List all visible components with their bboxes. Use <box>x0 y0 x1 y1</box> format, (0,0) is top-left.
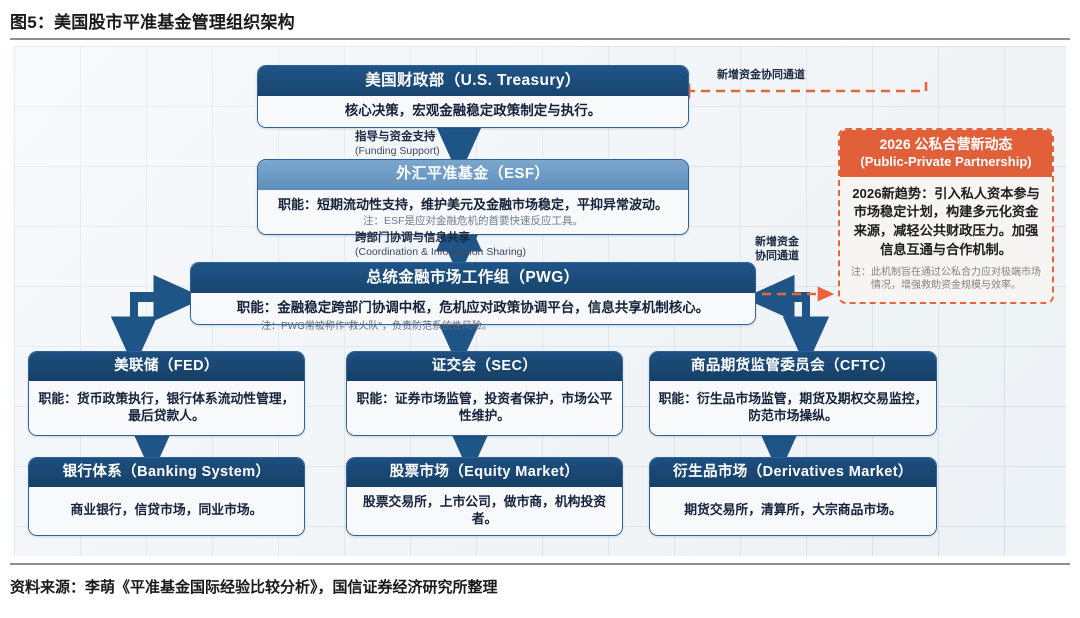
connector-label-funding: 指导与资金支持 (Funding Support) <box>355 131 440 157</box>
node-ppp-note: 注：此机制旨在通过公私合力应对极端市场情况，增强救助资金规模与效率。 <box>840 264 1052 302</box>
node-public-private-partnership[interactable]: 2026 公私合营新动态 (Public-Private Partnership… <box>838 128 1054 304</box>
node-esf-body-text: 职能：短期流动性支持，维护美元及金融市场稳定，平抑异常波动。 <box>278 197 668 212</box>
node-derivatives-market-body: 期货交易所，清算所，大宗商品市场。 <box>650 487 936 535</box>
node-banking-system[interactable]: 银行体系（Banking System） 商业银行，信贷市场，同业市场。 <box>28 457 305 536</box>
node-sec-body: 职能：证券市场监管，投资者保护，市场公平性维护。 <box>347 381 622 435</box>
node-esf-body: 职能：短期流动性支持，维护美元及金融市场稳定，平抑异常波动。 注：ESF是应对金… <box>258 190 688 234</box>
node-treasury-body: 核心决策，宏观金融稳定政策制定与执行。 <box>258 96 688 127</box>
node-ppp-body: 2026新趋势：引入私人资本参与市场稳定计划，构建多元化资金来源，减轻公共财政压… <box>840 177 1052 264</box>
node-derivatives-market-header: 衍生品市场（Derivatives Market） <box>650 458 936 487</box>
node-esf-header: 外汇平准基金（ESF） <box>258 160 688 190</box>
figure-page: 图5：美国股市平准基金管理组织架构 <box>0 0 1080 618</box>
node-pwg-note: 注：PWG常被称作"救火队"，负责防范系统性风险。 <box>261 321 492 333</box>
node-banking-system-body: 商业银行，信贷市场，同业市场。 <box>29 487 304 535</box>
node-equity-market[interactable]: 股票市场（Equity Market） 股票交易所，上市公司，做市商，机构投资者… <box>346 457 623 536</box>
connector-label-channel-mid: 新增资金 协同通道 <box>755 236 799 264</box>
node-fed-header: 美联储（FED） <box>29 352 304 381</box>
node-cftc[interactable]: 商品期货监管委员会（CFTC） 职能：衍生品市场监管，期货及期权交易监控，防范市… <box>649 351 937 436</box>
node-ppp-header: 2026 公私合营新动态 (Public-Private Partnership… <box>840 130 1052 177</box>
node-cftc-header: 商品期货监管委员会（CFTC） <box>650 352 936 381</box>
node-fed[interactable]: 美联储（FED） 职能：货币政策执行，银行体系流动性管理，最后贷款人。 <box>28 351 305 436</box>
connector-label-channel-top: 新增资金协同通道 <box>717 69 805 82</box>
node-treasury-header: 美国财政部（U.S. Treasury） <box>258 66 688 96</box>
node-esf[interactable]: 外汇平准基金（ESF） 职能：短期流动性支持，维护美元及金融市场稳定，平抑异常波… <box>257 159 689 235</box>
connector-label-coordination: 跨部门协调与信息共享 (Coordination & Information S… <box>355 232 526 258</box>
node-derivatives-market[interactable]: 衍生品市场（Derivatives Market） 期货交易所，清算所，大宗商品… <box>649 457 937 536</box>
node-sec[interactable]: 证交会（SEC） 职能：证券市场监管，投资者保护，市场公平性维护。 <box>346 351 623 436</box>
node-esf-note: 注：ESF是应对金融危机的首要快速反应工具。 <box>266 215 680 229</box>
node-fed-body: 职能：货币政策执行，银行体系流动性管理，最后贷款人。 <box>29 381 304 435</box>
node-equity-market-body: 股票交易所，上市公司，做市商，机构投资者。 <box>347 487 622 535</box>
connector-label-funding-cn: 指导与资金支持 <box>355 131 436 143</box>
connector-label-funding-en: (Funding Support) <box>355 145 440 158</box>
connector-label-coordination-cn: 跨部门协调与信息共享 <box>355 232 470 244</box>
connector-label-coordination-en: (Coordination & Information Sharing) <box>355 246 526 259</box>
node-pwg[interactable]: 总统金融市场工作组（PWG） 职能：金融稳定跨部门协调中枢，危机应对政策协调平台… <box>190 262 756 325</box>
divider-top <box>10 38 1070 40</box>
figure-title: 图5：美国股市平准基金管理组织架构 <box>10 8 295 33</box>
connector-label-channel-mid-line2: 协同通道 <box>755 250 799 262</box>
node-ppp-header-en: (Public-Private Partnership) <box>846 154 1046 170</box>
connector-label-channel-mid-line1: 新增资金 <box>755 236 799 248</box>
node-pwg-body: 职能：金融稳定跨部门协调中枢，危机应对政策协调平台，信息共享机制核心。 <box>191 293 755 324</box>
diagram-canvas: 美国财政部（U.S. Treasury） 核心决策，宏观金融稳定政策制定与执行。… <box>14 46 1066 556</box>
divider-bottom <box>10 563 1070 565</box>
node-sec-header: 证交会（SEC） <box>347 352 622 381</box>
node-ppp-header-cn: 2026 公私合营新动态 <box>846 136 1046 154</box>
node-banking-system-header: 银行体系（Banking System） <box>29 458 304 487</box>
figure-source: 资料来源：李萌《平准基金国际经验比较分析》，国信证券经济研究所整理 <box>10 576 498 597</box>
node-pwg-header: 总统金融市场工作组（PWG） <box>191 263 755 293</box>
node-treasury[interactable]: 美国财政部（U.S. Treasury） 核心决策，宏观金融稳定政策制定与执行。 <box>257 65 689 128</box>
node-cftc-body: 职能：衍生品市场监管，期货及期权交易监控，防范市场操纵。 <box>650 381 936 435</box>
node-equity-market-header: 股票市场（Equity Market） <box>347 458 622 487</box>
